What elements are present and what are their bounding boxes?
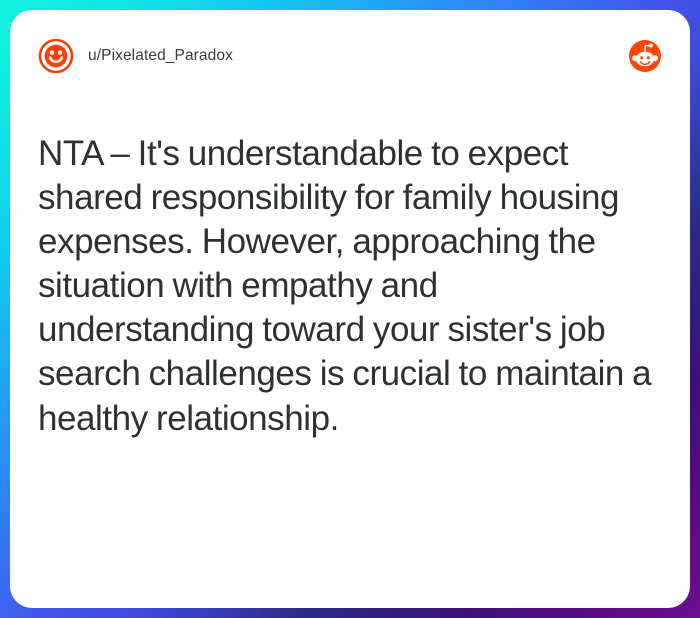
gradient-frame: u/Pixelated_Paradox xyxy=(0,0,700,618)
reddit-comment-card: u/Pixelated_Paradox xyxy=(10,10,690,608)
card-header: u/Pixelated_Paradox xyxy=(10,10,690,102)
smiley-face-avatar-icon xyxy=(38,38,74,74)
author-block[interactable]: u/Pixelated_Paradox xyxy=(38,38,628,74)
comment-text: NTA – It's understandable to expect shar… xyxy=(38,132,658,441)
card-body: NTA – It's understandable to expect shar… xyxy=(38,132,658,441)
reddit-snoo-icon[interactable] xyxy=(628,39,662,73)
author-username: u/Pixelated_Paradox xyxy=(88,47,233,65)
